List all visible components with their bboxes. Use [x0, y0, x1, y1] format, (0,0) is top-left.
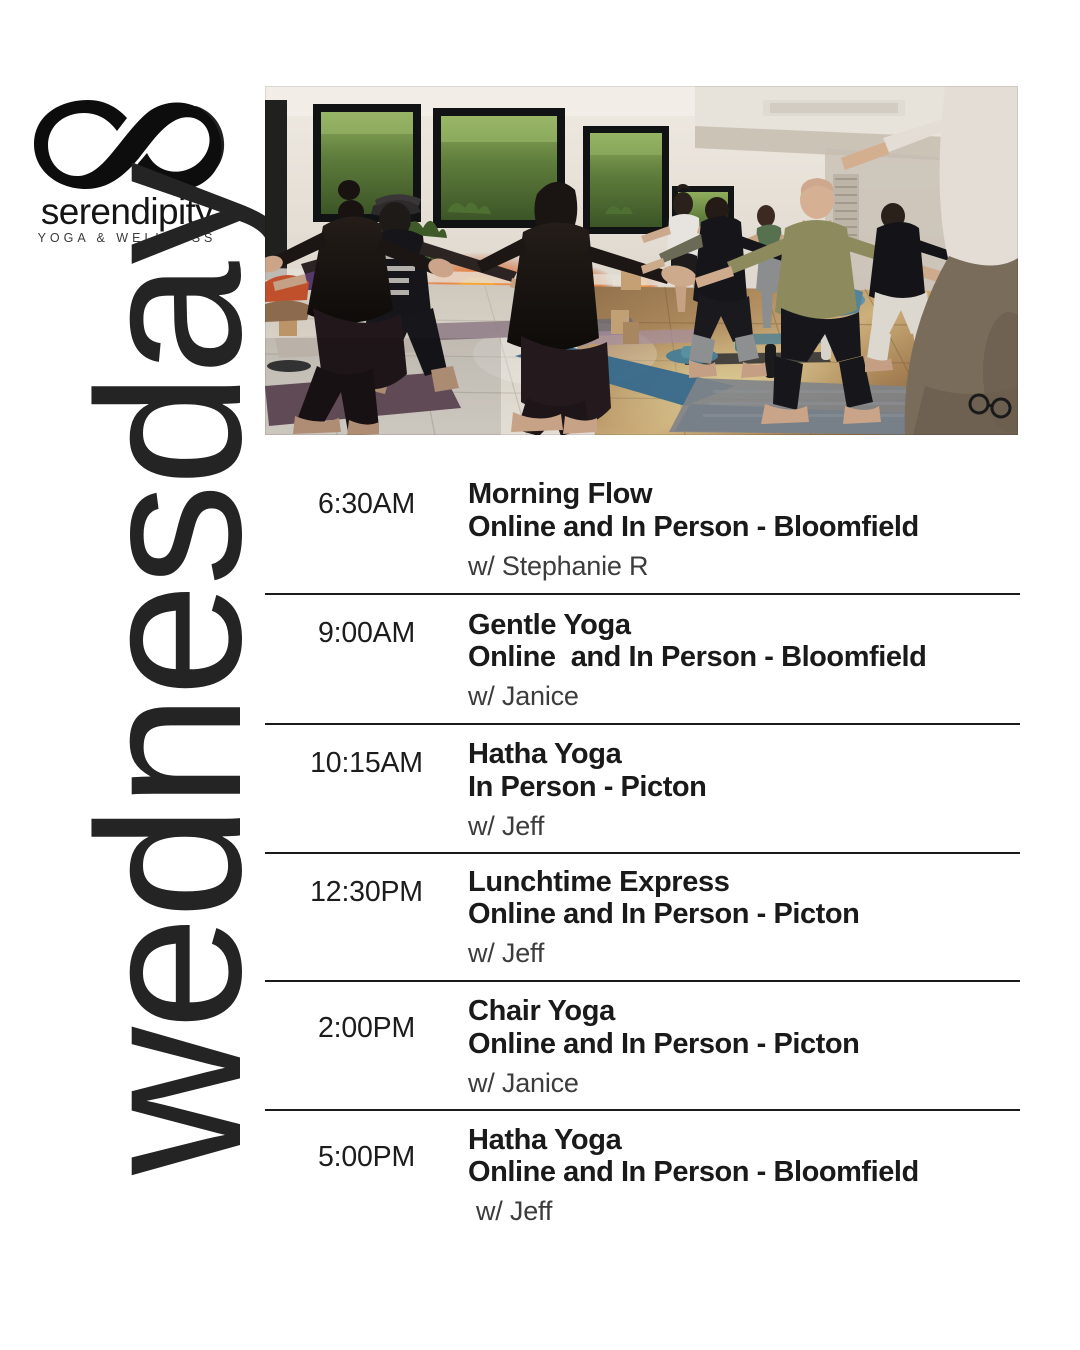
- class-name: Chair Yoga: [468, 996, 1020, 1028]
- class-location: Online and In Person - Picton: [468, 1028, 1020, 1060]
- class-time: 9:00AM: [265, 595, 468, 650]
- class-location: Online and In Person - Picton: [468, 898, 1020, 930]
- class-details: Morning Flow Online and In Person - Bloo…: [468, 466, 1020, 593]
- class-details: Chair Yoga Online and In Person - Picton…: [468, 982, 1020, 1109]
- class-name: Hatha Yoga: [468, 1125, 1020, 1157]
- studio-class-photo: [265, 86, 1018, 435]
- class-location: Online and In Person - Bloomfield: [468, 1156, 1020, 1188]
- class-schedule: 6:30AM Morning Flow Online and In Person…: [265, 466, 1020, 1237]
- class-time: 10:15AM: [265, 725, 468, 780]
- left-column: serendipity YOGA & WELLNESS wednesday: [0, 0, 258, 1350]
- class-time: 12:30PM: [265, 854, 468, 909]
- right-column: 6:30AM Morning Flow Online and In Person…: [265, 0, 1020, 1350]
- class-teacher: w/ Janice: [468, 1068, 1020, 1099]
- class-details: Gentle Yoga Online and In Person - Bloom…: [468, 595, 1020, 724]
- schedule-row[interactable]: 10:15AM Hatha Yoga In Person - Picton w/…: [265, 725, 1020, 854]
- class-teacher: w/ Janice: [468, 681, 1020, 712]
- class-teacher: w/ Jeff: [468, 811, 1020, 842]
- class-name: Hatha Yoga: [468, 739, 1020, 771]
- vertical-day-banner: wednesday: [75, 175, 265, 1175]
- class-name: Morning Flow: [468, 479, 1020, 511]
- schedule-row[interactable]: 12:30PM Lunchtime Express Online and In …: [265, 854, 1020, 983]
- class-teacher: w/ Jeff: [468, 1196, 1020, 1227]
- class-teacher: w/ Jeff: [468, 938, 1020, 969]
- class-teacher: w/ Stephanie R: [468, 551, 1020, 582]
- day-label: wednesday: [75, 175, 265, 1175]
- class-name: Lunchtime Express: [468, 867, 1020, 899]
- schedule-row[interactable]: 6:30AM Morning Flow Online and In Person…: [265, 466, 1020, 595]
- class-time: 5:00PM: [265, 1111, 468, 1174]
- class-name: Gentle Yoga: [468, 610, 1020, 642]
- class-location: Online and In Person - Bloomfield: [468, 641, 1020, 673]
- schedule-row[interactable]: 5:00PM Hatha Yoga Online and In Person -…: [265, 1111, 1020, 1238]
- class-details: Hatha Yoga In Person - Picton w/ Jeff: [468, 725, 1020, 852]
- class-details: Lunchtime Express Online and In Person -…: [468, 854, 1020, 981]
- class-time: 6:30AM: [265, 466, 468, 521]
- class-details: Hatha Yoga Online and In Person - Bloomf…: [468, 1111, 1020, 1238]
- schedule-row[interactable]: 2:00PM Chair Yoga Online and In Person -…: [265, 982, 1020, 1111]
- schedule-row[interactable]: 9:00AM Gentle Yoga Online and In Person …: [265, 595, 1020, 726]
- class-time: 2:00PM: [265, 982, 468, 1045]
- class-location: In Person - Picton: [468, 771, 1020, 803]
- class-location: Online and In Person - Bloomfield: [468, 511, 1020, 543]
